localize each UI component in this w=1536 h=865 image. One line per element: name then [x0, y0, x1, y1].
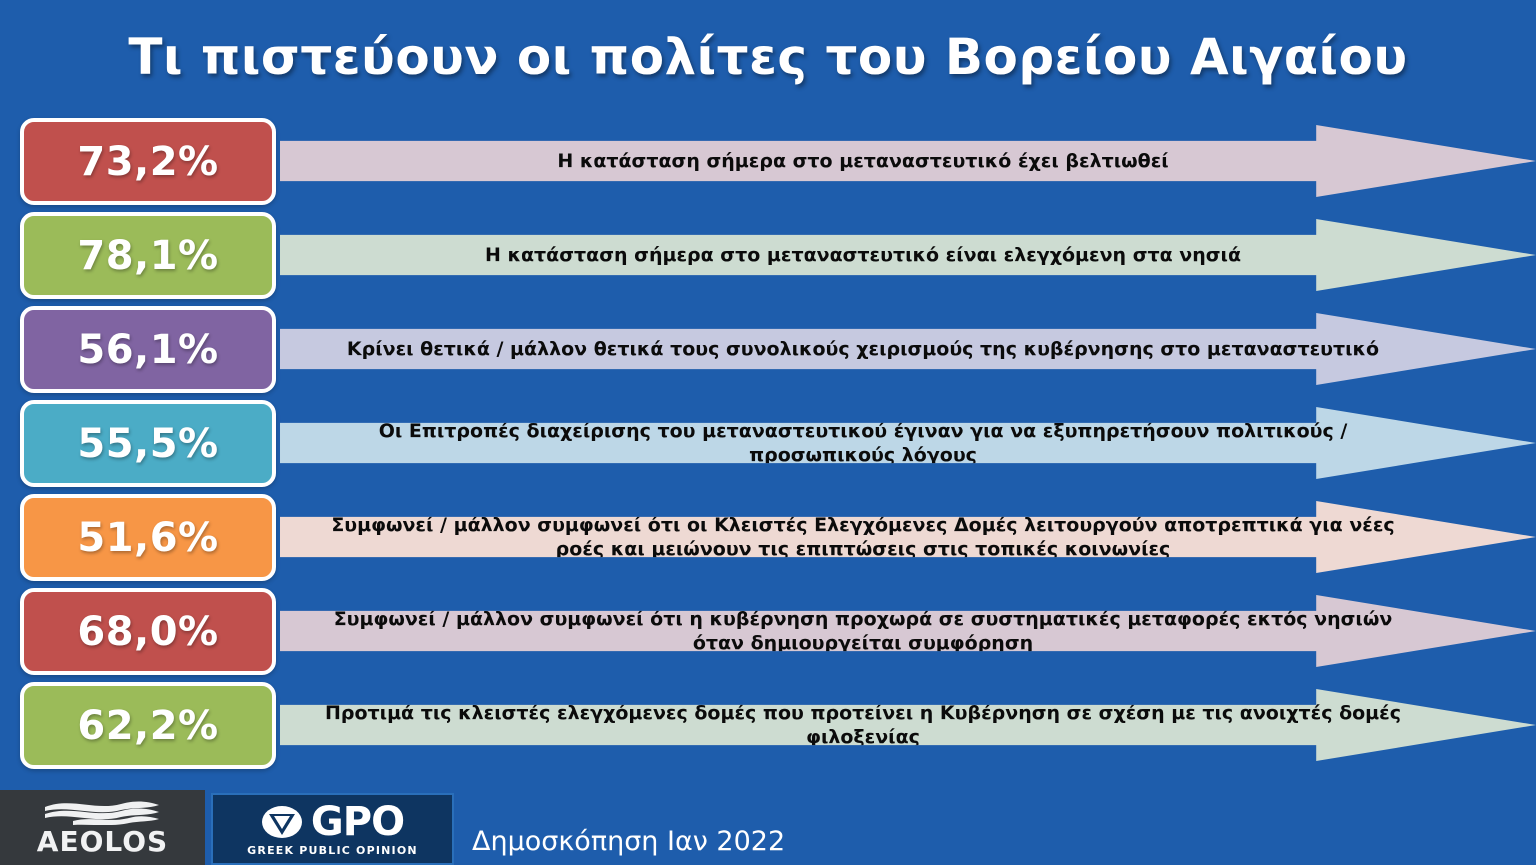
percentage-badge: 62,2%	[20, 682, 276, 769]
statement-label: Συμφωνεί / μάλλον συμφωνεί ότι οι Κλειστ…	[310, 513, 1416, 562]
statement-arrow-band: Κρίνει θετικά / μάλλον θετικά τους συνολ…	[280, 313, 1536, 385]
statement-arrow-band: Η κατάσταση σήμερα στο μεταναστευτικό έχ…	[280, 125, 1536, 197]
percentage-value: 68,0%	[77, 609, 218, 655]
percentage-value: 62,2%	[77, 703, 218, 749]
percentage-badge: 51,6%	[20, 494, 276, 581]
percentage-value: 51,6%	[77, 515, 218, 561]
statement-label: Κρίνει θετικά / μάλλον θετικά τους συνολ…	[347, 337, 1379, 361]
survey-date-note: Δημοσκόπηση Ιαν 2022	[472, 826, 785, 857]
statement-arrow-band: Συμφωνεί / μάλλον συμφωνεί ότι η κυβέρνη…	[280, 595, 1536, 667]
result-row: Οι Επιτροπές διαχείρισης του μεταναστευτ…	[0, 400, 1536, 487]
aeolos-logo: AEOLOS	[0, 790, 205, 865]
aeolos-wordmark: AEOLOS	[37, 828, 168, 856]
wave-icon	[43, 799, 163, 825]
statement-label: Η κατάσταση σήμερα στο μεταναστευτικό έχ…	[557, 149, 1168, 173]
percentage-badge: 78,1%	[20, 212, 276, 299]
percentage-value: 55,5%	[77, 421, 218, 467]
percentage-badge: 55,5%	[20, 400, 276, 487]
statement-label: Προτιμά τις κλειστές ελεγχόμενες δομές π…	[310, 701, 1416, 750]
result-row: Η κατάσταση σήμερα στο μεταναστευτικό έχ…	[0, 118, 1536, 205]
statement-label: Οι Επιτροπές διαχείρισης του μεταναστευτ…	[310, 419, 1416, 468]
percentage-value: 56,1%	[77, 327, 218, 373]
statement-label: Συμφωνεί / μάλλον συμφωνεί ότι η κυβέρνη…	[310, 607, 1416, 656]
percentage-value: 78,1%	[77, 233, 218, 279]
percentage-badge: 73,2%	[20, 118, 276, 205]
result-row: Κρίνει θετικά / μάλλον θετικά τους συνολ…	[0, 306, 1536, 393]
percentage-badge: 68,0%	[20, 588, 276, 675]
result-row: Προτιμά τις κλειστές ελεγχόμενες δομές π…	[0, 682, 1536, 769]
result-row: Συμφωνεί / μάλλον συμφωνεί ότι η κυβέρνη…	[0, 588, 1536, 675]
statement-label: Η κατάσταση σήμερα στο μεταναστευτικό εί…	[485, 243, 1241, 267]
result-row: Συμφωνεί / μάλλον συμφωνεί ότι οι Κλειστ…	[0, 494, 1536, 581]
gpo-check-badge-icon	[261, 805, 303, 839]
statement-arrow-band: Η κατάσταση σήμερα στο μεταναστευτικό εί…	[280, 219, 1536, 291]
page-title: Τι πιστεύουν οι πολίτες του Βορείου Αιγα…	[0, 28, 1536, 86]
gpo-wordmark: GPO	[311, 802, 404, 842]
footer: AEOLOS GPO GREEK PUBLIC OPINION Δημοσκόπ…	[0, 785, 1536, 865]
statement-arrow-band: Συμφωνεί / μάλλον συμφωνεί ότι οι Κλειστ…	[280, 501, 1536, 573]
percentage-value: 73,2%	[77, 139, 218, 185]
result-row: Η κατάσταση σήμερα στο μεταναστευτικό εί…	[0, 212, 1536, 299]
statement-arrow-band: Προτιμά τις κλειστές ελεγχόμενες δομές π…	[280, 689, 1536, 761]
gpo-logo: GPO GREEK PUBLIC OPINION	[211, 793, 454, 865]
percentage-badge: 56,1%	[20, 306, 276, 393]
gpo-tagline: GREEK PUBLIC OPINION	[247, 844, 418, 857]
results-list: Η κατάσταση σήμερα στο μεταναστευτικό έχ…	[0, 118, 1536, 776]
statement-arrow-band: Οι Επιτροπές διαχείρισης του μεταναστευτ…	[280, 407, 1536, 479]
